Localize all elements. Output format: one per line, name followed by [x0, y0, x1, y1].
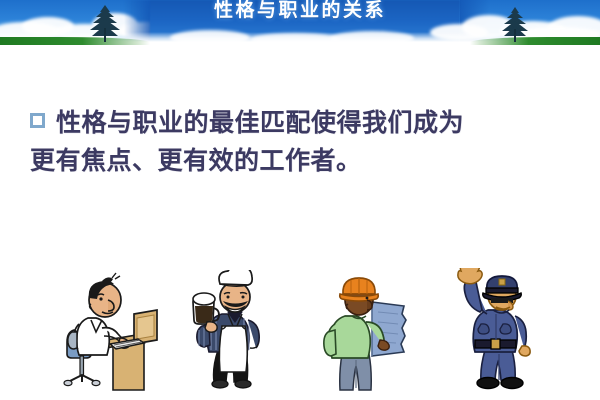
office-worker-at-computer-illustration: [58, 270, 162, 394]
police-officer-waving-illustration: [455, 268, 549, 394]
banner-bottom-fade: [0, 45, 600, 48]
body-text-line-1: 性格与职业的最佳匹配使得我们成为: [56, 104, 464, 142]
square-outline-bullet-icon: [30, 113, 45, 128]
chef-with-mustache-illustration: [192, 270, 288, 394]
bullet-paragraph: 性格与职业的最佳匹配使得我们成为 更有焦点、更有效的工作者。: [30, 104, 550, 180]
occupation-illustrations-row: [0, 268, 600, 394]
construction-worker-with-blueprint-illustration: [322, 270, 414, 394]
page-title: 性格与职业的关系: [0, 0, 600, 25]
body-text-wrapper: 性格与职业的最佳匹配使得我们成为 更有焦点、更有效的工作者。: [56, 104, 464, 180]
body-text-line-2: 更有焦点、更有效的工作者。: [30, 142, 464, 180]
body-content-block: 性格与职业的最佳匹配使得我们成为 更有焦点、更有效的工作者。: [30, 104, 550, 180]
slide-canvas: 性格与职业的关系 性格与职业的最佳匹配使得我们成为 更有焦点、更有效的工作者。: [0, 0, 600, 400]
